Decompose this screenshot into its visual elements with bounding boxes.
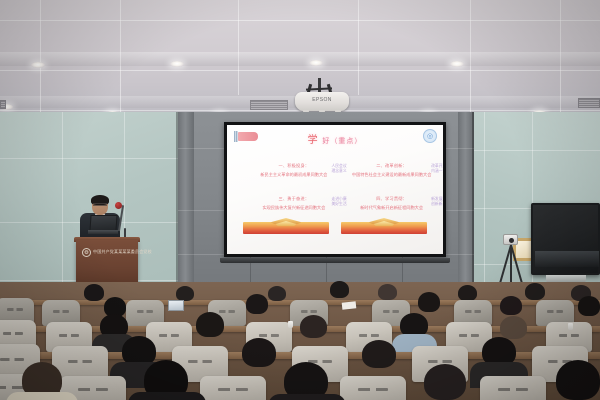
audience-head bbox=[378, 284, 397, 300]
ceiling: EPSON bbox=[0, 0, 600, 118]
audience-head bbox=[300, 315, 327, 338]
projection-screen: ◎ 学 好（重点） 一、积极投身： 新民主主义革命的最初成果同胞大会 人民会议 … bbox=[224, 122, 446, 257]
slide-item-heading: 四、学习贯彻： bbox=[347, 196, 437, 202]
audience-head bbox=[424, 364, 466, 400]
recessed-downlight bbox=[450, 61, 464, 67]
recessed-downlight bbox=[31, 62, 45, 68]
seat bbox=[340, 376, 406, 400]
presenter-laptop-base bbox=[88, 230, 118, 234]
slide-item-body: 实现民族伟大复兴新征途同胞大会 bbox=[249, 205, 339, 211]
slide-item-body: 中国特色社会主义建设的最新成果同胞大会 bbox=[347, 172, 437, 178]
slide-item-note: 走进小康 美好生活 bbox=[331, 197, 346, 207]
microphone-head-icon bbox=[115, 202, 122, 209]
camera-lens-icon bbox=[509, 238, 514, 243]
audience-head bbox=[556, 360, 600, 400]
slide-item-note: 新发展型 创新新发展理念 bbox=[431, 197, 443, 207]
audience-head bbox=[330, 281, 349, 298]
air-vent bbox=[0, 100, 6, 109]
slide-content-grid: 一、积极投身： 新民主主义革命的最初成果同胞大会 人民会议 理念意义 二、改革创… bbox=[245, 163, 433, 225]
tiananmen-illustration bbox=[341, 222, 427, 234]
audience-head bbox=[246, 294, 268, 314]
slide-surface: ◎ 学 好（重点） 一、积极投身： 新民主主义革命的最初成果同胞大会 人民会议 … bbox=[227, 125, 443, 254]
slide-item-note: 改革开放 内涵一览 bbox=[431, 164, 443, 174]
tiananmen-illustration bbox=[243, 222, 329, 234]
audience-head bbox=[242, 338, 276, 367]
slide-title-main: 学 bbox=[308, 135, 319, 146]
audience-shoulders bbox=[6, 392, 78, 400]
air-vent bbox=[578, 98, 600, 108]
slide-item: 四、学习贯彻： 新时代气象新开启新征程同胞大会 bbox=[347, 196, 437, 211]
slide-title: 学 好（重点） bbox=[227, 131, 443, 146]
seat bbox=[200, 376, 266, 400]
paper-cup bbox=[568, 323, 573, 330]
audience-head bbox=[176, 286, 194, 301]
audience-head bbox=[500, 316, 527, 339]
air-vent bbox=[250, 100, 288, 110]
presenter-laptop-screen bbox=[89, 215, 117, 231]
slide-item-heading: 三、勇于奋进： bbox=[249, 196, 339, 202]
projector-brand-label: EPSON bbox=[295, 97, 349, 103]
seat bbox=[480, 376, 546, 400]
podium-text: 中国共产党某某某某委员会党校 bbox=[93, 249, 152, 255]
audience-laptop bbox=[168, 300, 184, 311]
audience-head bbox=[418, 292, 440, 312]
eyeglasses-icon bbox=[93, 203, 107, 206]
paper-notes bbox=[342, 301, 357, 309]
audience-head bbox=[84, 284, 104, 301]
paper-cup bbox=[288, 321, 293, 328]
slide-item: 二、改革创新： 中国特色社会主义建设的最新成果同胞大会 bbox=[347, 163, 437, 178]
slide-item: 三、勇于奋进： 实现民族伟大复兴新征途同胞大会 bbox=[249, 196, 339, 211]
slide-item-heading: 二、改革创新： bbox=[347, 163, 437, 169]
camera-body bbox=[503, 234, 518, 245]
audience-head bbox=[196, 312, 224, 337]
slide-title-sub: 好（重点） bbox=[322, 138, 362, 145]
slide-item-note: 人民会议 理念意义 bbox=[331, 164, 346, 174]
recessed-downlight bbox=[170, 61, 184, 67]
podium-emblem-icon: ❂ bbox=[82, 248, 91, 257]
audience-head bbox=[578, 296, 600, 316]
audience-shoulders bbox=[128, 392, 206, 400]
audience-head bbox=[362, 340, 396, 368]
recessed-downlight bbox=[309, 60, 323, 66]
slide-item-body: 新民主主义革命的最初成果同胞大会 bbox=[249, 172, 339, 178]
screen-bottom-bar bbox=[220, 258, 450, 263]
audience-shoulders bbox=[268, 394, 346, 400]
audience-head bbox=[500, 296, 522, 315]
audience-head bbox=[268, 286, 286, 301]
projector: EPSON bbox=[295, 92, 349, 111]
slide-item-heading: 一、积极投身： bbox=[249, 163, 339, 169]
slide-item-body: 新时代气象新开启新征程同胞大会 bbox=[347, 205, 437, 211]
display-glare bbox=[535, 251, 599, 267]
wall-mounted-display bbox=[531, 203, 600, 275]
lecture-hall-photo: EPSON ◎ bbox=[0, 0, 600, 400]
audience-head bbox=[458, 285, 477, 301]
audience-head bbox=[525, 283, 545, 300]
slide-item: 一、积极投身： 新民主主义革命的最初成果同胞大会 bbox=[249, 163, 339, 178]
